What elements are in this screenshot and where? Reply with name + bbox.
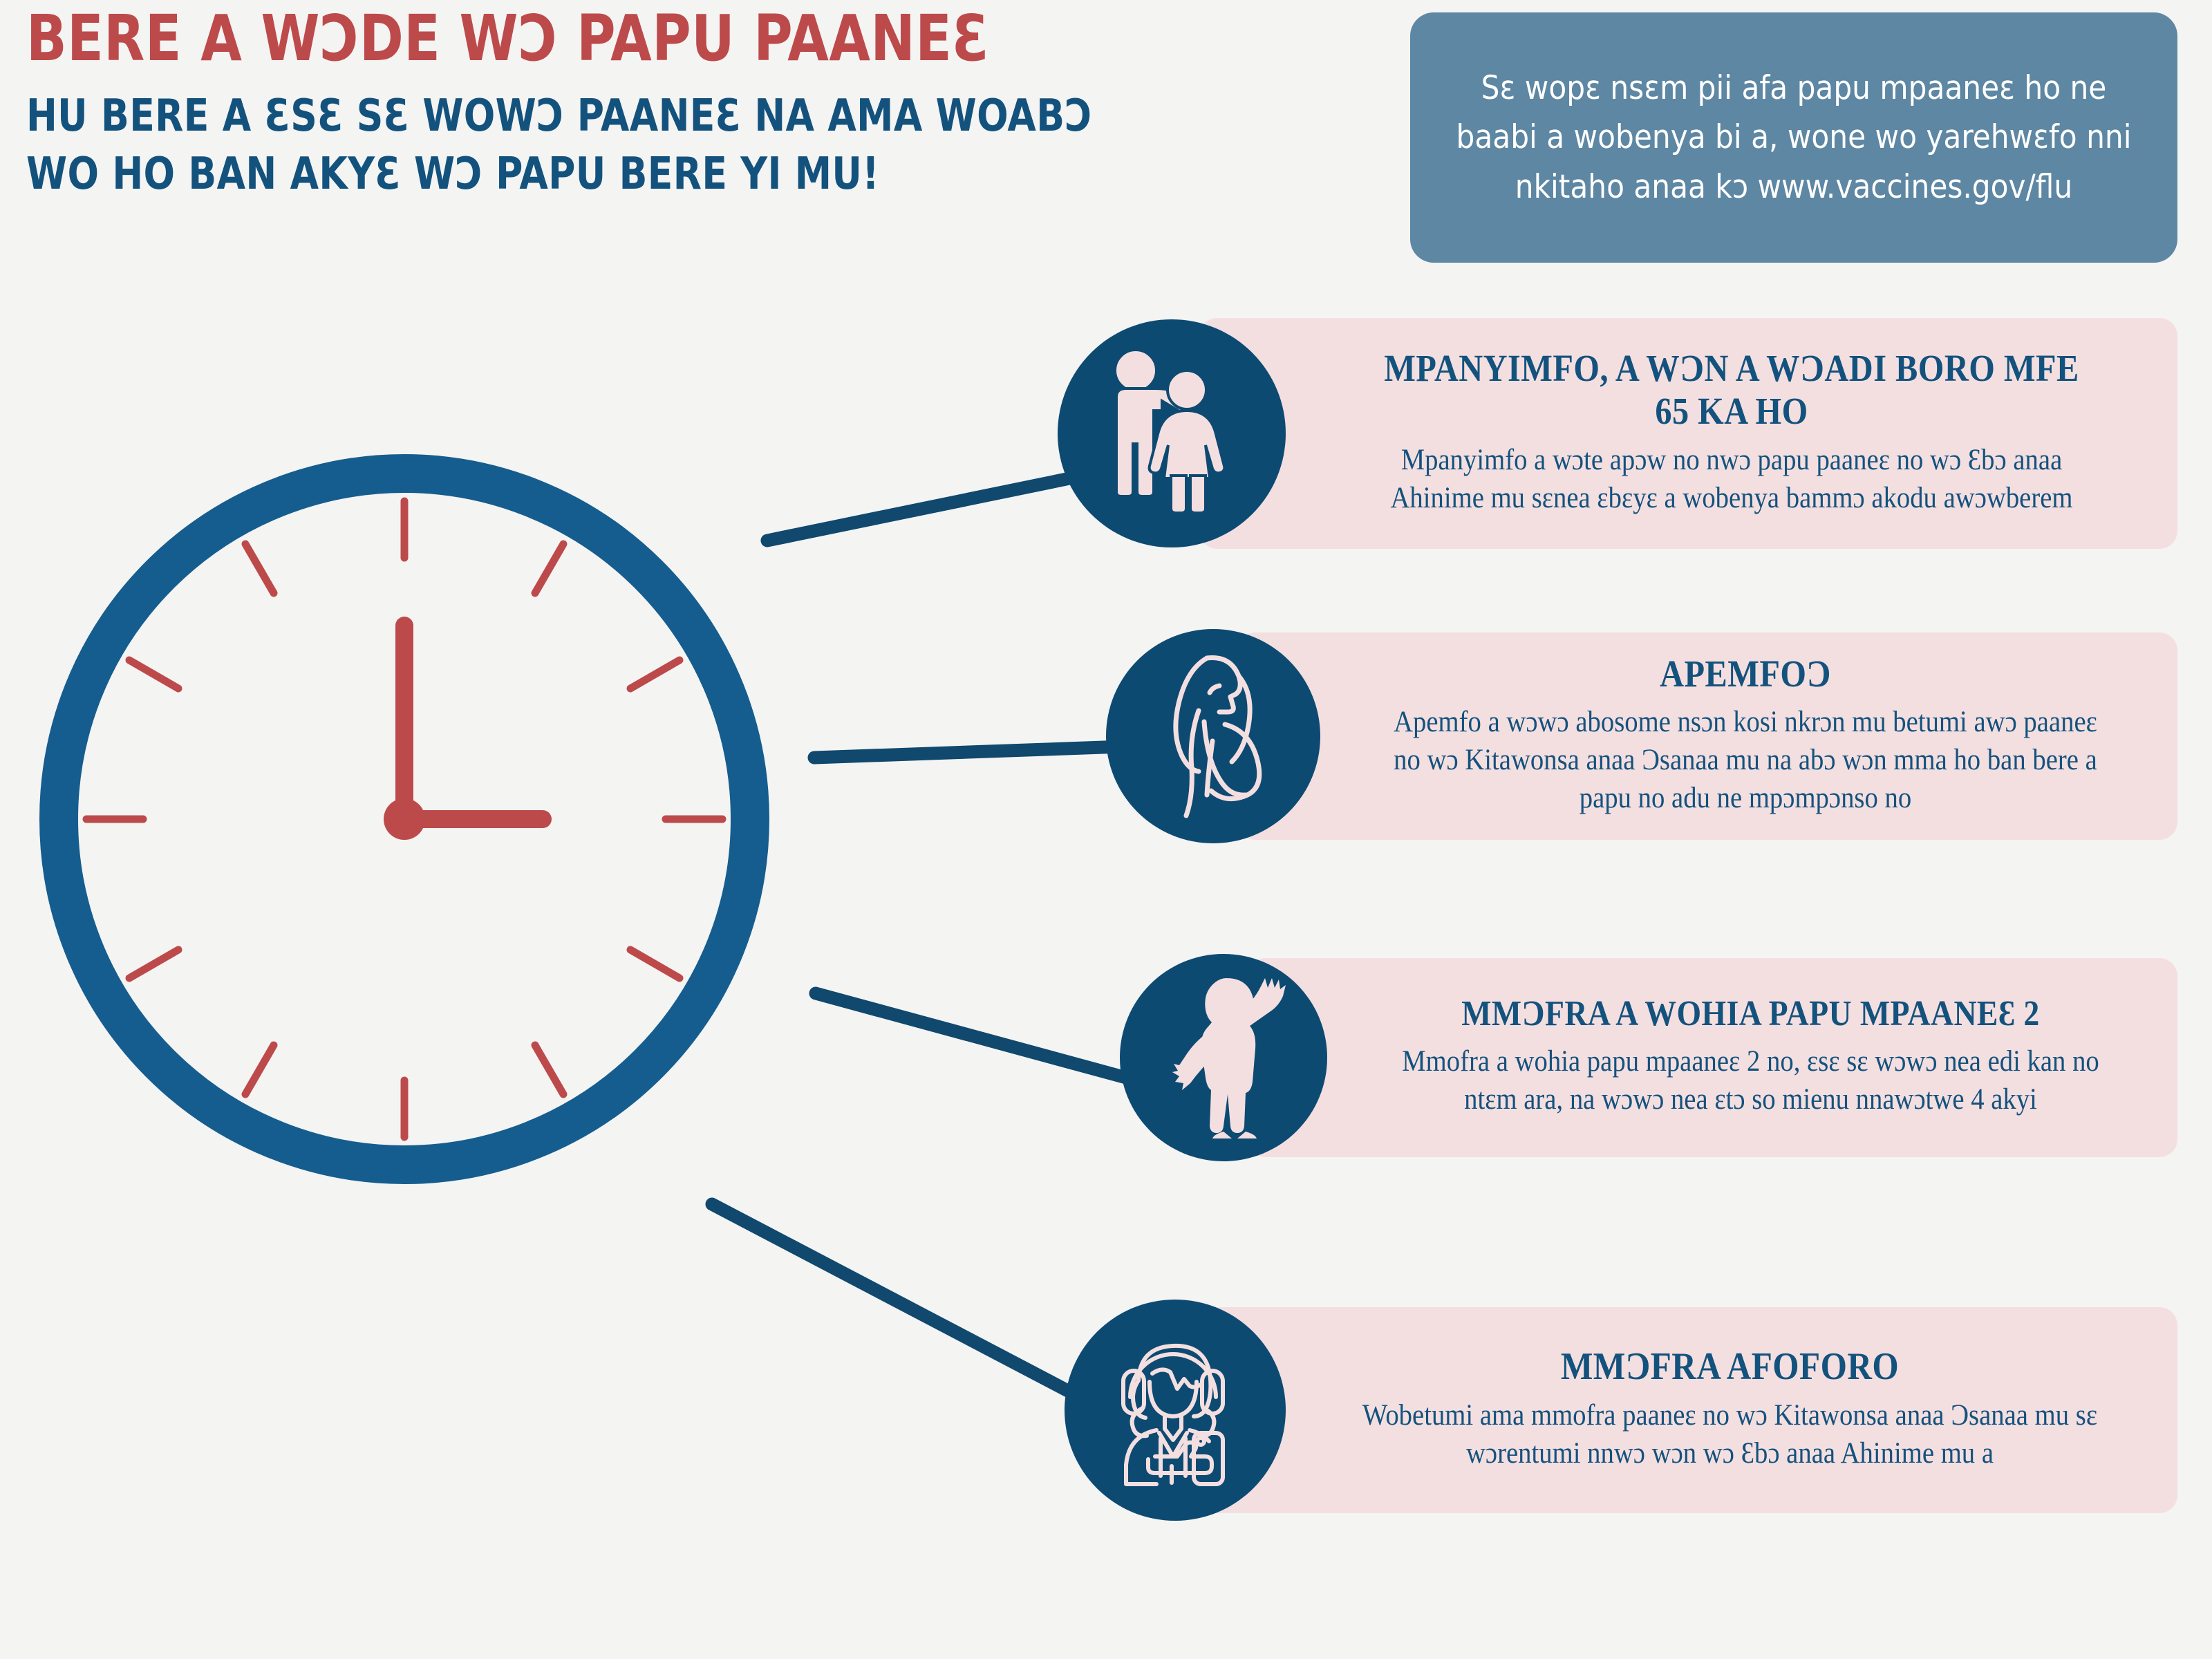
info-row-pregnant: APEMFOƆ Apemfo a wɔwɔ abosome nsɔn kosi … bbox=[1106, 629, 2177, 843]
header-block: BERE A WƆDE WƆ PAPU PAANEƐ HU BERE A ƐSƐ… bbox=[26, 7, 1430, 204]
pregnant-woman-glyph bbox=[1141, 650, 1286, 823]
info-card-body: Apemfo a wɔwɔ abosome nsɔn kosi nkrɔn mu… bbox=[1382, 703, 2110, 817]
clock-svg bbox=[21, 435, 788, 1203]
toddler-icon bbox=[1120, 954, 1327, 1161]
info-card-body: Wobetumi ama mmofra paaneɛ no wɔ Kitawon… bbox=[1352, 1396, 2108, 1472]
info-card-pregnant: APEMFOƆ Apemfo a wɔwɔ abosome nsɔn kosi … bbox=[1237, 632, 2177, 840]
info-card-body: Mpanyimfo a wɔte apɔw no nwɔ papu paaneɛ… bbox=[1356, 441, 2108, 517]
analog-clock bbox=[21, 435, 788, 1203]
connector-line-3 bbox=[816, 993, 1134, 1080]
connector-line-2 bbox=[814, 747, 1123, 758]
pregnant-woman-icon bbox=[1106, 629, 1320, 843]
info-row-teen: MMƆFRA AFOFORO Wobetumi ama mmofra paane… bbox=[1065, 1300, 2177, 1521]
connector-line-1 bbox=[767, 476, 1083, 541]
info-callout-box: Sɛ wopɛ nsɛm pii afa papu mpaaneɛ ho ne … bbox=[1410, 12, 2177, 263]
clock-center-pin bbox=[384, 798, 425, 840]
teen-with-headphones-icon bbox=[1065, 1300, 1286, 1521]
connector-line-4 bbox=[712, 1204, 1078, 1396]
elderly-couple-icon bbox=[1058, 319, 1286, 547]
infographic-poster: BERE A WƆDE WƆ PAPU PAANEƐ HU BERE A ƐSƐ… bbox=[0, 0, 2212, 1659]
info-callout-text: Sɛ wopɛ nsɛm pii afa papu mpaaneɛ ho ne … bbox=[1441, 64, 2147, 212]
info-card-body: Mmofra a wohia papu mpaaneɛ 2 no, ɛsɛ sɛ… bbox=[1391, 1042, 2110, 1118]
info-row-elderly: MPANYIMFO, A WƆN A WƆADI BORO MFE 65 KA … bbox=[1058, 318, 2177, 549]
info-card-title: MMƆFRA A WOHIA PAPU MPAANEƐ 2 bbox=[1399, 994, 2101, 1034]
info-card-title: MPANYIMFO, A WƆN A WƆADI BORO MFE 65 KA … bbox=[1364, 347, 2100, 432]
page-subtitle-line-2: WO HO BAN AKYƐ WƆ PAPU BERE YI MU! bbox=[26, 145, 1331, 203]
info-card-title: MMƆFRA AFOFORO bbox=[1360, 1345, 2099, 1389]
info-row-toddler: MMƆFRA A WOHIA PAPU MPAANEƐ 2 Mmofra a w… bbox=[1120, 954, 2177, 1161]
info-card-toddler: MMƆFRA A WOHIA PAPU MPAANEƐ 2 Mmofra a w… bbox=[1248, 958, 2177, 1157]
info-card-title: APEMFOƆ bbox=[1389, 653, 2101, 695]
info-card-elderly: MPANYIMFO, A WƆN A WƆADI BORO MFE 65 KA … bbox=[1199, 318, 2177, 549]
toddler-glyph bbox=[1154, 971, 1293, 1144]
page-title: BERE A WƆDE WƆ PAPU PAANEƐ bbox=[26, 7, 1331, 71]
elderly-couple-glyph bbox=[1089, 347, 1255, 520]
page-subtitle: HU BERE A ƐSƐ SƐ WOWƆ PAANEƐ NA AMA WOAB… bbox=[26, 87, 1331, 204]
teen-headphones-glyph bbox=[1096, 1331, 1255, 1490]
info-card-teen: MMƆFRA AFOFORO Wobetumi ama mmofra paane… bbox=[1196, 1307, 2177, 1513]
page-subtitle-line-1: HU BERE A ƐSƐ SƐ WOWƆ PAANEƐ NA AMA WOAB… bbox=[26, 87, 1331, 145]
